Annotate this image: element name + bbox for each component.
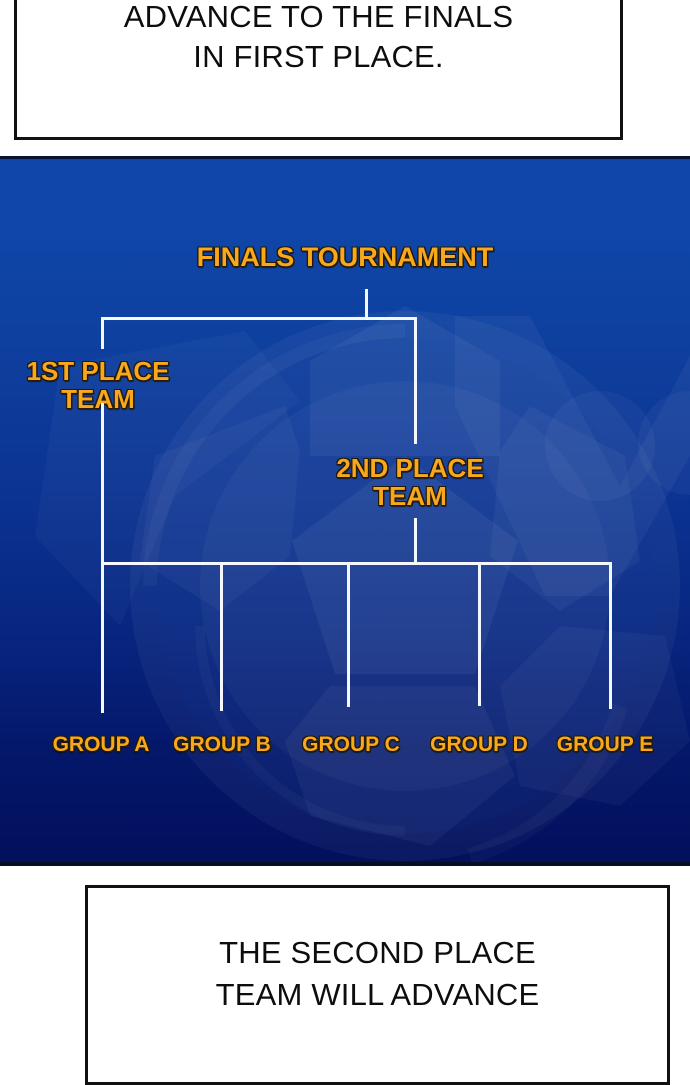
top-caption-line-2: IN FIRST PLACE. <box>193 37 444 77</box>
bracket-line-title-stem <box>365 289 368 317</box>
second-place-line-1: 2ND PLACE <box>320 454 500 482</box>
finals-tournament-title: FINALS TOURNAMENT <box>0 243 690 272</box>
bracket-line-group-c-stem <box>347 562 350 707</box>
top-caption-box: ADVANCE TO THE FINALS IN FIRST PLACE. <box>14 0 623 140</box>
bottom-caption-line-2: TEAM WILL ADVANCE <box>216 974 540 1016</box>
first-place-team-label: 1ST PLACE TEAM <box>8 357 188 413</box>
group-label-c: GROUP C <box>281 734 421 757</box>
bracket-line-groups-bar <box>101 562 612 565</box>
panel-bottom-edge <box>0 862 690 866</box>
bracket-line-top-bar <box>101 317 417 320</box>
top-caption-line-1: ADVANCE TO THE FINALS <box>124 0 514 37</box>
second-place-line-2: TEAM <box>320 482 500 510</box>
bracket-line-group-b-stem <box>220 562 223 711</box>
bracket-line-group-d-stem <box>478 562 481 706</box>
bracket-line-second-to-groups <box>414 518 417 562</box>
bracket-line-group-a-stem <box>101 562 104 713</box>
bottom-caption-line-1: THE SECOND PLACE <box>219 932 536 974</box>
bracket-line-first-to-groups <box>101 403 104 562</box>
first-place-line-1: 1ST PLACE <box>8 357 188 385</box>
bracket-panel: FINALS TOURNAMENT 1ST PLACE TEAM 2ND PLA… <box>0 156 690 866</box>
second-place-team-label: 2ND PLACE TEAM <box>320 454 500 510</box>
group-label-e: GROUP E <box>535 734 675 757</box>
group-label-b: GROUP B <box>152 734 292 757</box>
group-label-d: GROUP D <box>409 734 549 757</box>
panel-top-edge <box>0 156 690 159</box>
bracket-line-group-e-stem <box>609 562 612 709</box>
bottom-caption-box: THE SECOND PLACE TEAM WILL ADVANCE <box>85 885 670 1085</box>
bracket-line-first-place-stem <box>101 317 104 349</box>
group-label-a: GROUP A <box>31 734 171 757</box>
bracket-line-second-place-stem <box>414 317 417 444</box>
first-place-line-2: TEAM <box>8 385 188 413</box>
